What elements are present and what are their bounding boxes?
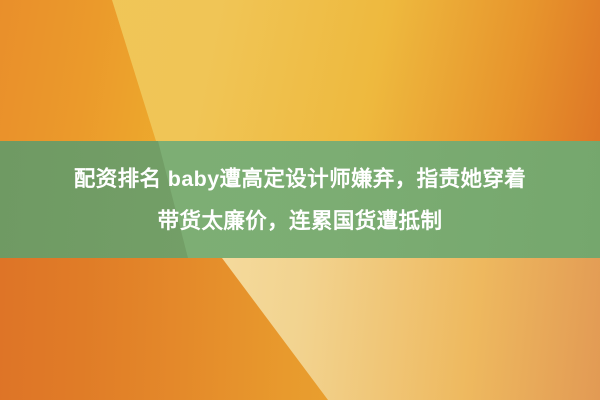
headline-line-2: 带货太廉价，连累国货遭抵制 xyxy=(0,200,600,242)
headline-text-block: 配资排名 baby遭高定设计师嫌弃，指责她穿着 带货太廉价，连累国货遭抵制 xyxy=(0,158,600,242)
article-cover-banner: 配资排名 baby遭高定设计师嫌弃，指责她穿着 带货太廉价，连累国货遭抵制 xyxy=(0,0,600,400)
headline-line-1: 配资排名 baby遭高定设计师嫌弃，指责她穿着 xyxy=(0,158,600,200)
